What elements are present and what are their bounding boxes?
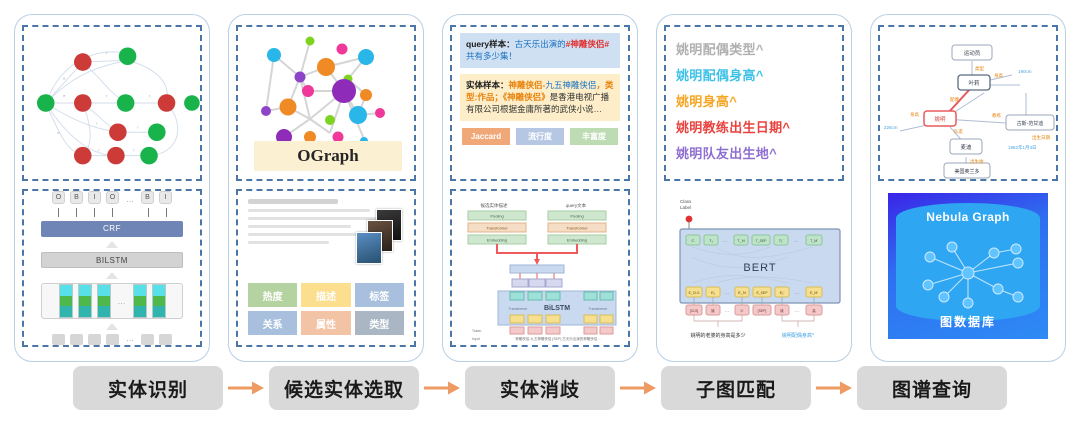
bert-caption-right: 姚明配偶身高^ [782,332,815,339]
crf-tag: I [88,191,101,204]
svg-text:190cm: 190cm [1018,69,1032,74]
arrow-up-icon [106,323,118,330]
crf-stack: O B I O … B I CRF BILSTM [24,191,200,345]
svg-text:T_M': T_M' [810,239,818,243]
svg-text:T_N: T_N [737,238,745,243]
tag-chip-3[interactable]: 关系 [248,311,297,335]
query-sample-text: 古天乐出演的 [515,39,566,49]
bert-svg: Class Label BERT [672,195,844,345]
arrow-up-icon [106,272,118,279]
svg-text:…: … [795,290,800,295]
kg-node-label: 叶莉 [968,79,980,87]
query-pattern-3: 姚明教练出生日期^ [676,117,836,136]
svg-text:队友: 队友 [954,128,963,135]
pipeline-arrow-icon [223,379,269,397]
query-pattern-0: 姚明配偶类型^ [676,39,836,58]
svg-text:r: r [106,93,108,98]
pipeline-arrow-icon [811,379,857,397]
panel-entity-recognition: er rr er rr re [14,14,210,362]
svg-text:Embedding: Embedding [567,238,587,243]
panel-subgraph-matching: 姚明配偶类型^ 姚明配偶身高^ 姚明身高^ 姚明教练出生日期^ 姚明队友出生地^… [656,14,852,362]
svg-text:Transformer: Transformer [509,307,529,311]
similarity-chip-row: Jaccard 流行度 丰富度 [452,128,628,145]
ellipsis: … [124,195,136,204]
pipeline-step-4[interactable]: 图谱查询 [857,366,1007,410]
svg-text:r: r [133,148,135,153]
svg-text:出生地: 出生地 [970,158,984,165]
svg-text:…: … [795,308,800,313]
nn-svg: 候选实体描述 query文本 Pooling Transformer Embed… [458,197,626,343]
svg-text:E_M': E_M' [810,291,818,295]
svg-text:身高: 身高 [994,72,1003,79]
query-sample-prefix: query样本： [466,39,515,49]
svg-text:T₁: T₁ [709,238,713,243]
embedding-box: … [41,283,183,319]
svg-text:226cm: 226cm [884,125,898,130]
disambiguation-network-box: 候选实体描述 query文本 Pooling Transformer Embed… [450,189,630,347]
entity-doc-box: 热度 描述 标签 关系 属性 类型 [236,189,416,347]
entity-sample-prefix: 实体样本： [466,80,509,90]
svg-text:E_SEP: E_SEP [757,291,769,295]
svg-text:E₁: E₁ [711,290,716,295]
tag-chip-0[interactable]: 热度 [248,283,297,307]
svg-text:BiLSTM: BiLSTM [544,305,570,312]
svg-text:r: r [106,50,108,55]
svg-text:T_SEP: T_SEP [756,239,767,243]
crf-bilstm-box: O B I O … B I CRF BILSTM [22,189,202,347]
attribute-tag-grid: 热度 描述 标签 关系 属性 类型 [248,283,404,335]
svg-text:E_CLS: E_CLS [689,291,700,295]
query-pattern-list: 姚明配偶类型^ 姚明配偶身高^ 姚明身高^ 姚明教练出生日期^ 姚明队友出生地^ [666,27,842,162]
svg-text:Transformer: Transformer [589,307,609,311]
svg-text:T₁': T₁' [779,238,784,243]
query-sample-text-2: 共有多少集！ [466,51,517,61]
svg-text:r: r [96,120,98,125]
svg-text:配偶: 配偶 [950,96,959,103]
entity-sample-name: 神雕侠侣- [509,80,546,90]
crf-output-tags: O B I O … B I [52,191,172,204]
pipeline-step-3[interactable]: 子图匹配 [661,366,811,410]
panel-entity-disambiguation: query样本：古天乐出演的#神雕侠侣#共有多少集！ 实体样本：神雕侠侣-九五神… [442,14,638,362]
svg-text:…: … [794,238,799,243]
panel-candidate-entity-selection: OGraph 热度 [228,14,424,362]
ner-graph-box: er rr er rr re [22,25,202,181]
doc-preview: 热度 描述 标签 关系 属性 类型 [238,191,414,345]
svg-text:出生日期: 出生日期 [1032,134,1050,141]
infographic-root: er rr er rr re [0,0,1080,435]
svg-text:Token: Token [472,329,481,333]
kg-svg: 运动员 叶莉 姚明 古斯-范甘迪 麦迪 美国奥兰多 类型 [880,27,1058,181]
svg-text:Label: Label [680,205,691,210]
ellipsis: … [116,297,128,306]
kg-node-label-highlight: 姚明 [934,115,946,123]
query-sample-card: query样本：古天乐出演的#神雕侠侣#共有多少集！ [460,33,620,68]
pipeline-bar: 实体识别 候选实体选取 实体消歧 子图匹配 图谱查询 [0,363,1080,413]
svg-text:BERT: BERT [743,262,776,274]
bilstm-layer: BILSTM [41,252,183,268]
chip-richness[interactable]: 丰富度 [570,128,618,145]
query-pattern-2: 姚明身高^ [676,91,836,110]
bert-box: Class Label BERT [664,189,844,347]
ner-graph-svg: er rr er rr re [24,27,200,179]
nebula-graph-illustration: Nebula Graph [888,193,1048,339]
stage-row: er rr er rr re [0,14,1080,366]
nebula-network-icon [906,237,1030,309]
chip-jaccard[interactable]: Jaccard [462,128,510,145]
svg-text:[SEP]: [SEP] [758,309,767,313]
svg-text:e: e [63,76,65,81]
crf-tag: O [52,191,65,204]
svg-text:身高: 身高 [910,111,919,118]
svg-text:Embedding: Embedding [487,238,507,243]
tag-chip-1[interactable]: 描述 [301,283,350,307]
nebula-title: Nebula Graph [888,210,1048,224]
query-sample-highlight: #神雕侠侣# [566,39,609,49]
kg-node-label: 麦迪 [960,143,972,151]
ograph-box: OGraph [236,25,416,181]
svg-text:…: … [725,290,730,295]
crf-stems [52,208,173,217]
svg-text:Input: Input [472,337,480,341]
tag-chip-2[interactable]: 标签 [355,283,404,307]
query-pattern-4: 姚明队友出生地^ [676,143,836,162]
pipeline-arrow-icon [615,379,661,397]
crf-tag: B [70,191,83,204]
svg-text:C: C [692,238,695,243]
svg-text:Transformer: Transformer [486,226,508,231]
siamese-network-diagram: 候选实体描述 query文本 Pooling Transformer Embed… [452,191,628,345]
svg-text:类型: 类型 [975,65,984,72]
svg-text:Class: Class [680,199,692,204]
query-patterns-box: 姚明配偶类型^ 姚明配偶身高^ 姚明身高^ 姚明教练出生日期^ 姚明队友出生地^ [664,25,844,181]
bert-caption-left: 姚明的老婆的身高是多少 [690,332,745,339]
crf-layer: CRF [41,221,183,237]
svg-text:教练: 教练 [992,112,1001,119]
svg-text:r: r [98,148,100,153]
nebula-subtitle: 图数据库 [888,313,1048,330]
svg-text:…: … [723,238,728,243]
knowledge-graph: 运动员 叶莉 姚明 古斯-范甘迪 麦迪 美国奥兰多 类型 [880,27,1056,179]
svg-text:Transformer: Transformer [566,226,588,231]
chip-popularity[interactable]: 流行度 [516,128,564,145]
pipeline-step-0[interactable]: 实体识别 [73,366,223,410]
svg-text:…: … [725,308,730,313]
svg-text:Pooling: Pooling [570,214,583,219]
tag-chip-4[interactable]: 属性 [301,311,350,335]
svg-text:E₁': E₁' [780,290,785,295]
panel-graph-query: 运动员 叶莉 姚明 古斯-范甘迪 麦迪 美国奥兰多 类型 [870,14,1066,362]
tag-chip-5[interactable]: 类型 [355,311,404,335]
svg-text:1962年1月3日: 1962年1月3日 [1008,144,1037,151]
arrow-up-icon [106,241,118,248]
crf-tag: O [106,191,119,204]
svg-text:query文本: query文本 [566,202,587,209]
knowledge-graph-box: 运动员 叶莉 姚明 古斯-范甘迪 麦迪 美国奥兰多 类型 [878,25,1058,181]
nebula-graph-box: Nebula Graph [878,189,1058,347]
svg-text:候选实体描述: 候选实体描述 [481,202,508,209]
query-pattern-1: 姚明配偶身高^ [676,65,836,84]
bert-diagram: Class Label BERT [664,189,844,347]
crf-tag: I [159,191,172,204]
svg-text:神雕侠侣-九五神雕侠侣 [SEP] 古天乐出演的神雕侠侣…: 神雕侠侣-九五神雕侠侣 [SEP] 古天乐出演的神雕侠侣… [515,336,601,341]
crf-tag: B [141,191,154,204]
pipeline-step-1[interactable]: 候选实体选取 [269,366,419,410]
svg-text:E_N: E_N [738,290,746,295]
ellipsis: … [124,334,136,345]
class-label-dot [686,216,693,223]
svg-text:r: r [137,124,139,129]
thumbnail-image [356,232,382,264]
entity-sample-card: 实体样本：神雕侠侣-九五神雕侠侣，类型:作品；《神雕侠侣》是香港电视广播有限公司… [460,74,620,121]
svg-text:[CLS]: [CLS] [690,309,699,313]
entity-sample-alias: 九五神雕侠侣 [545,80,596,90]
pipeline-step-2[interactable]: 实体消歧 [465,366,615,410]
svg-text:r: r [149,93,151,98]
entity-sample-desc-2: 金庸所著的武侠小说… [517,104,602,114]
ograph-label: OGraph [254,141,402,171]
input-tokens: … [52,334,172,345]
kg-node-label: 美国奥兰多 [954,168,979,175]
ograph-graph: OGraph [238,27,414,179]
kg-node-label: 运动员 [964,49,981,57]
kg-node-label: 古斯-范甘迪 [1017,120,1044,127]
pipeline-arrow-icon [419,379,465,397]
svg-text:e: e [57,130,59,135]
svg-text:Pooling: Pooling [490,214,503,219]
disambiguation-samples-box: query样本：古天乐出演的#神雕侠侣#共有多少集！ 实体样本：神雕侠侣-九五神… [450,25,630,181]
svg-text:e: e [63,93,65,98]
